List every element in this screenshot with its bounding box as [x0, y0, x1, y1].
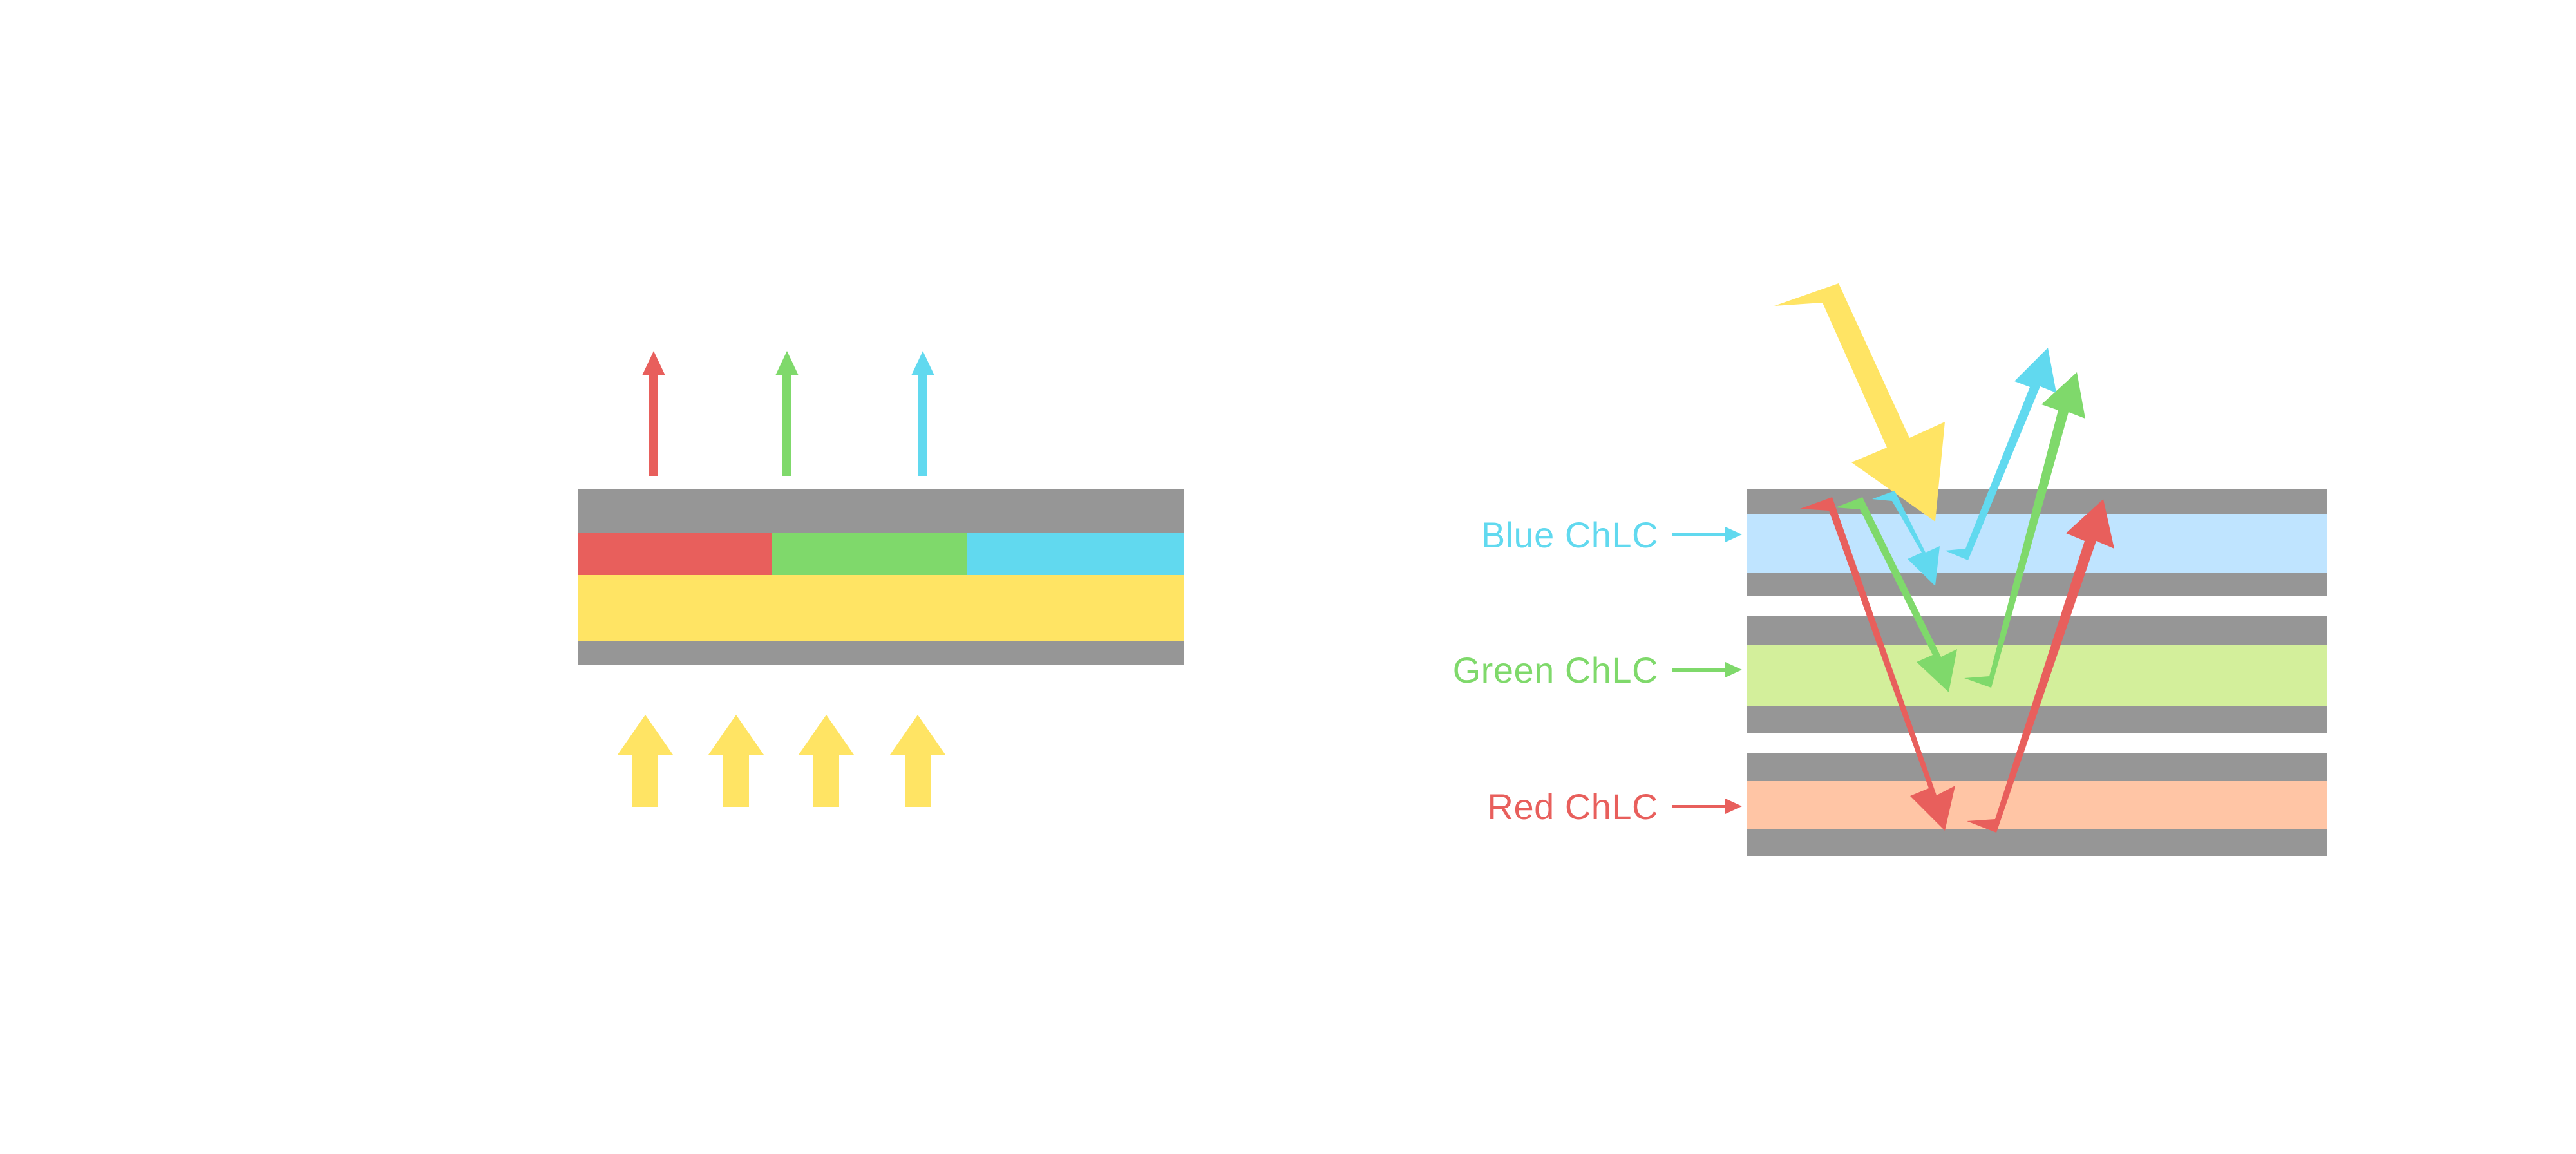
red-chlc-label-text: Red ChLC [1488, 786, 1658, 828]
blue-cell-top-electrode [1747, 489, 2327, 514]
arrowhead [911, 351, 934, 375]
arrow-shaft [918, 373, 927, 476]
green-cell-bottom-electrode [1747, 706, 2327, 733]
pointer-arrow-icon [1672, 803, 1742, 809]
arrow-shaft [813, 752, 839, 807]
green-chlc-label-text: Green ChLC [1453, 649, 1658, 691]
top-substrate-layer [578, 489, 1184, 533]
red-cell-bottom-electrode [1747, 829, 2327, 856]
blue-cell-bottom-electrode [1747, 573, 2327, 596]
backlight-layer [578, 575, 1184, 641]
arrowhead [708, 715, 764, 755]
emission-layer-stack [578, 489, 1184, 665]
arrowhead [799, 715, 854, 755]
incident-white-light-arrow [1774, 283, 1945, 522]
arrowhead [642, 351, 665, 375]
chlc-layer-stack [1747, 489, 2327, 856]
blue-chlc-label: Blue ChLC [1385, 515, 1742, 554]
arrowhead [618, 715, 673, 755]
green-chlc-layer [1747, 645, 2327, 706]
arrow-shaft [905, 752, 931, 807]
red-chlc-label: Red ChLC [1385, 787, 1742, 826]
blue-chlc-layer [1747, 514, 2327, 573]
arrowhead [890, 715, 945, 755]
color-filter-row [578, 533, 1184, 575]
arrow-shaft [723, 752, 749, 807]
reflective-chlc-panel: Blue ChLC Green ChLC Red ChLC [1288, 0, 2576, 1154]
green-chlc-label: Green ChLC [1385, 650, 1742, 689]
green-filter-segment [772, 533, 967, 575]
pointer-arrow-icon [1672, 667, 1742, 673]
figure-canvas: Blue ChLC Green ChLC Red ChLC [0, 0, 2576, 1154]
arrow-shaft [632, 752, 658, 807]
arrowhead [775, 351, 799, 375]
arrow-shaft [782, 373, 791, 476]
red-filter-segment [578, 533, 772, 575]
bottom-substrate-layer [578, 641, 1184, 665]
pointer-arrow-icon [1672, 531, 1742, 538]
blue-chlc-label-text: Blue ChLC [1481, 514, 1658, 556]
blue-filter-segment [967, 533, 1184, 575]
emission-stack-panel [0, 0, 1288, 1154]
red-chlc-layer [1747, 781, 2327, 829]
red-cell-top-electrode [1747, 753, 2327, 781]
green-cell-top-electrode [1747, 616, 2327, 645]
arrow-shaft [649, 373, 658, 476]
